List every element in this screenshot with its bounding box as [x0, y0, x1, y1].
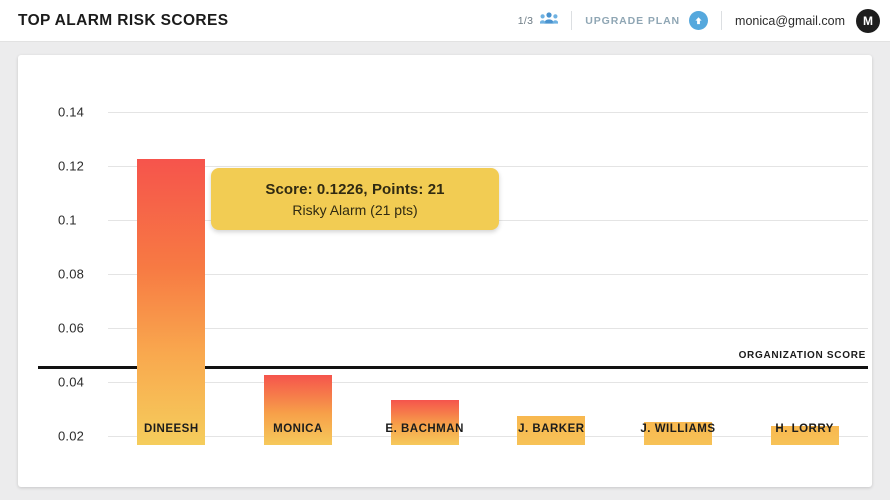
avatar[interactable]: M — [856, 9, 880, 33]
tooltip-title: Score: 0.1226, Points: 21 — [265, 181, 444, 198]
bar-group: J. BARKER — [488, 55, 615, 445]
top-header-bar: TOP ALARM RISK SCORES 1/3 UPGRADE PLAN — [0, 0, 890, 42]
user-account-menu[interactable]: monica@gmail.com M — [722, 9, 880, 33]
x-axis-tick-label: J. BARKER — [488, 423, 615, 435]
y-axis-tick-label: 0.1 — [58, 212, 77, 227]
user-email-label: monica@gmail.com — [735, 14, 845, 28]
bar[interactable] — [137, 159, 205, 445]
x-axis-tick-label: E. BACHMAN — [361, 423, 488, 435]
x-axis-tick-label: MONICA — [235, 423, 362, 435]
bar-group: J. WILLIAMS — [615, 55, 742, 445]
header-right-cluster: 1/3 UPGRADE PLAN — [505, 0, 880, 41]
seat-usage-indicator[interactable]: 1/3 — [505, 11, 572, 30]
bar-group: MONICA — [235, 55, 362, 445]
bar-group: E. BACHMAN — [361, 55, 488, 445]
people-group-icon — [540, 11, 558, 30]
bar-group: DINEESH — [108, 55, 235, 445]
y-axis-tick-label: 0.08 — [58, 266, 84, 281]
x-axis-tick-label: H. LORRY — [741, 423, 868, 435]
bar-tooltip: Score: 0.1226, Points: 21 Risky Alarm (2… — [211, 168, 499, 230]
y-axis-tick-label: 0.06 — [58, 320, 84, 335]
y-axis-tick-label: 0.12 — [58, 158, 84, 173]
tooltip-subtitle: Risky Alarm (21 pts) — [292, 202, 417, 218]
y-axis-tick-label: 0.04 — [58, 374, 84, 389]
arrow-up-circle-icon — [689, 11, 708, 30]
seat-count-label: 1/3 — [518, 15, 534, 27]
x-axis-tick-label: DINEESH — [108, 423, 235, 435]
x-axis-tick-label: J. WILLIAMS — [615, 423, 742, 435]
chart-card: 0.020.040.060.080.10.120.14 ORGANIZATION… — [18, 55, 872, 487]
bar-group: H. LORRY — [741, 55, 868, 445]
upgrade-plan-button[interactable]: UPGRADE PLAN — [572, 11, 721, 30]
y-axis-tick-label: 0.02 — [58, 428, 84, 443]
y-axis-tick-label: 0.14 — [58, 104, 84, 119]
upgrade-plan-label: UPGRADE PLAN — [585, 15, 680, 27]
bar-chart-plot-area: 0.020.040.060.080.10.120.14 ORGANIZATION… — [36, 55, 872, 487]
bars-layer: DINEESHMONICAE. BACHMANJ. BARKERJ. WILLI… — [108, 55, 868, 487]
page-title: TOP ALARM RISK SCORES — [18, 12, 229, 30]
